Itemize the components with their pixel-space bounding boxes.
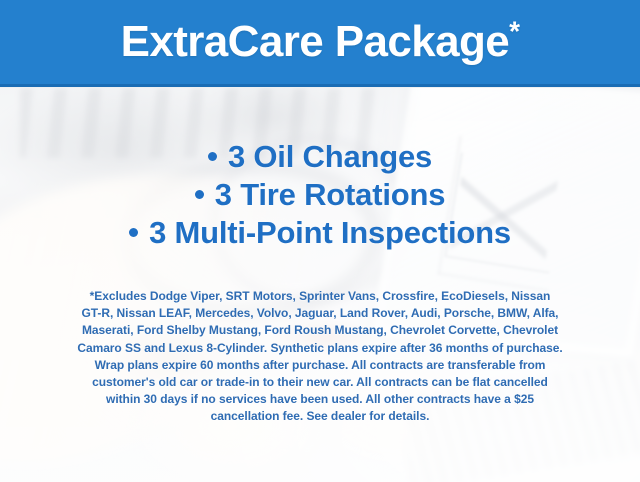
bullet-dot-icon (208, 152, 217, 161)
disclaimer-line: *Excludes Dodge Viper, SRT Motors, Sprin… (22, 288, 618, 305)
disclaimer-line: GT-R, Nissan LEAF, Mercedes, Volvo, Jagu… (22, 305, 618, 322)
offer-bullet-list: 3 Oil Changes 3 Tire Rotations 3 Multi-P… (0, 138, 640, 252)
list-item: 3 Multi-Point Inspections (0, 214, 640, 252)
disclaimer-text: *Excludes Dodge Viper, SRT Motors, Sprin… (22, 288, 618, 426)
extracare-package-promo-graphic: ExtraCare Package* 3 Oil Changes 3 Tire … (0, 0, 640, 482)
disclaimer-line: Wrap plans expire 60 months after purcha… (22, 357, 618, 374)
list-item: 3 Oil Changes (0, 138, 640, 176)
list-item-label: 3 Tire Rotations (215, 177, 446, 212)
page-title-asterisk: * (509, 15, 519, 46)
header-banner: ExtraCare Package* (0, 0, 640, 87)
disclaimer-line: Camaro SS and Lexus 8-Cylinder. Syntheti… (22, 340, 618, 357)
disclaimer-line: Maserati, Ford Shelby Mustang, Ford Rous… (22, 322, 618, 339)
page-title: ExtraCare Package* (121, 20, 520, 64)
list-item: 3 Tire Rotations (0, 176, 640, 214)
disclaimer-line: within 30 days if no services have been … (22, 391, 618, 408)
list-item-label: 3 Multi-Point Inspections (149, 215, 511, 250)
disclaimer-line: customer's old car or trade-in to their … (22, 374, 618, 391)
bullet-dot-icon (195, 190, 204, 199)
list-item-label: 3 Oil Changes (228, 139, 432, 174)
bullet-dot-icon (129, 228, 138, 237)
page-title-text: ExtraCare Package (121, 17, 510, 66)
disclaimer-line: cancellation fee. See dealer for details… (22, 408, 618, 425)
